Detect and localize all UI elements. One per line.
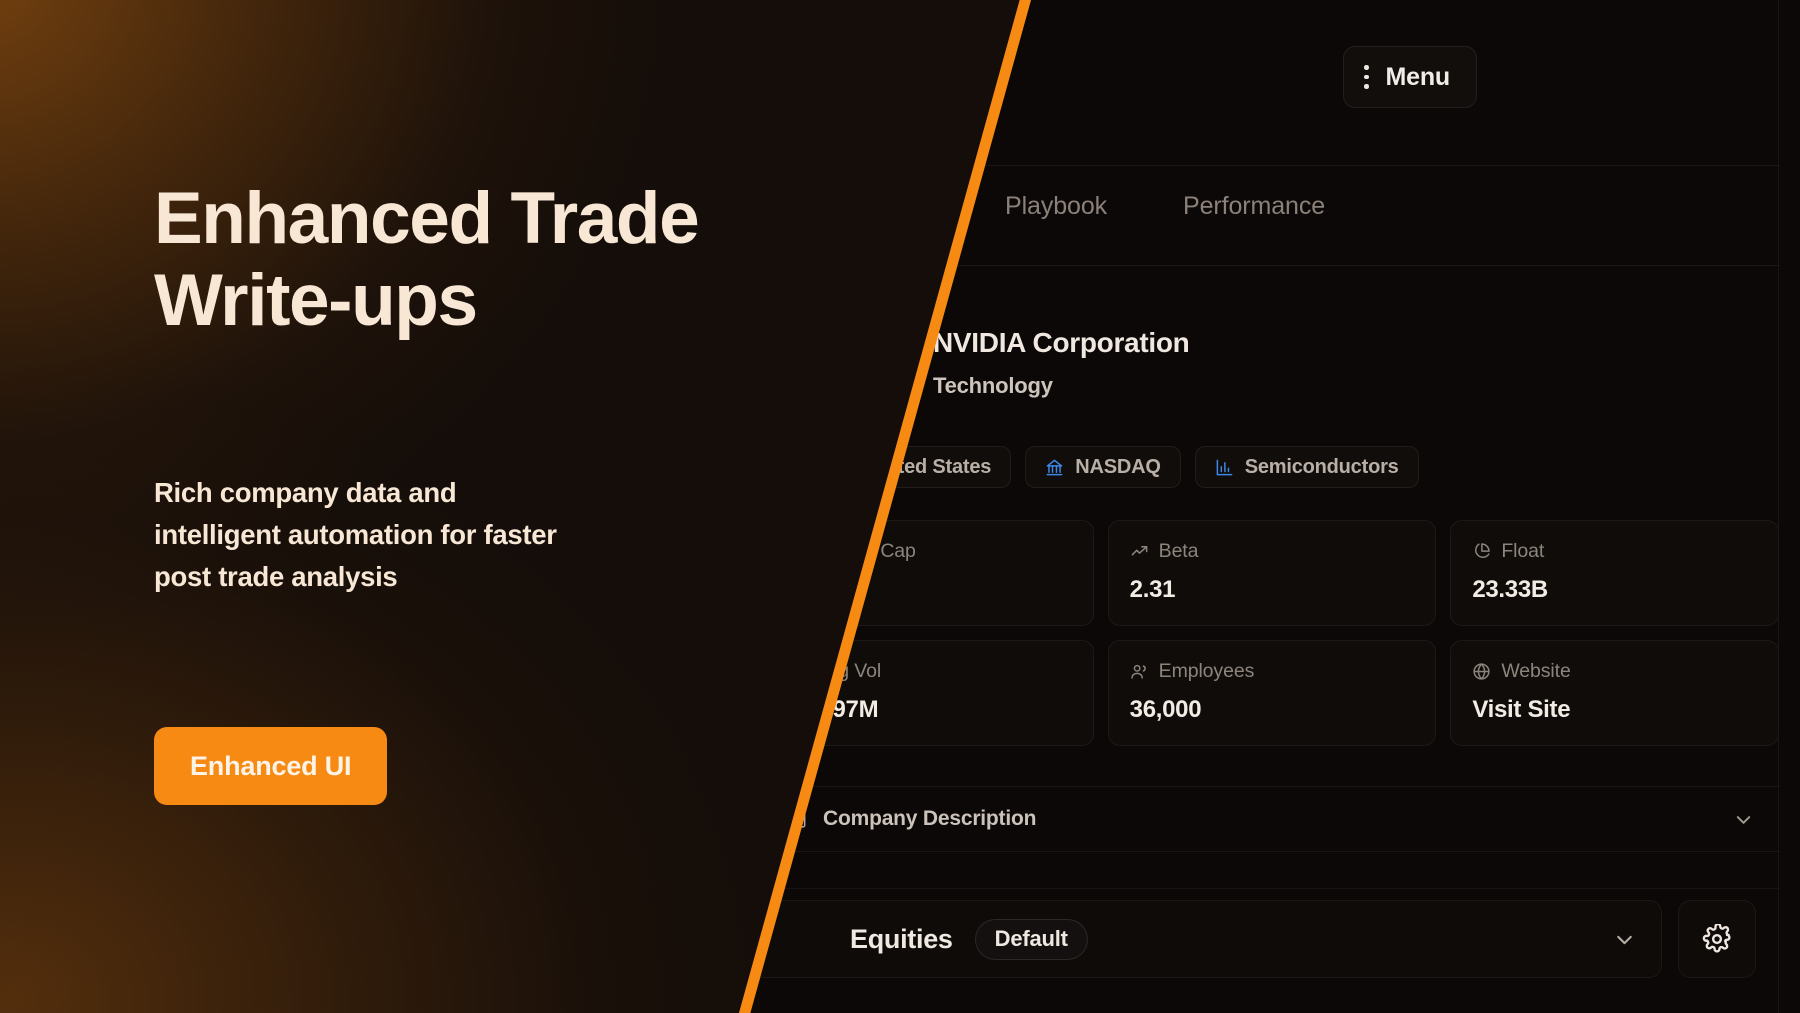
badge-industry[interactable]: Semiconductors (1195, 446, 1419, 488)
metric-card-header: Website (1472, 660, 1757, 683)
tab-bar: Playbook Performance (1005, 192, 1325, 221)
gear-icon (1702, 924, 1732, 954)
metric-card-employees[interactable]: Employees 36,000 (1108, 640, 1437, 746)
bar-chart-icon (1215, 458, 1234, 477)
badge-industry-label: Semiconductors (1245, 456, 1399, 479)
metric-card-website[interactable]: Website Visit Site (1450, 640, 1779, 746)
company-name: NVIDIA Corporation (933, 327, 1189, 359)
preset-badge: Default (975, 919, 1088, 960)
chevron-down-icon[interactable] (1612, 927, 1637, 952)
enhanced-ui-button[interactable]: Enhanced UI (154, 727, 387, 805)
kebab-menu-icon (1364, 65, 1369, 89)
metric-label: Float (1501, 540, 1544, 563)
tab-playbook[interactable]: Playbook (1005, 192, 1107, 221)
tab-performance[interactable]: Performance (1183, 192, 1325, 221)
metric-label: Website (1501, 660, 1570, 683)
metric-label: Beta (1159, 540, 1199, 563)
metric-value: 23.33B (1472, 576, 1757, 604)
metric-card-beta[interactable]: Beta 2.31 (1108, 520, 1437, 626)
metric-card-header: Beta (1130, 540, 1415, 563)
badge-exchange[interactable]: NASDAQ (1025, 446, 1180, 488)
bank-icon (1045, 458, 1064, 477)
metric-card-header: Employees (1130, 660, 1415, 683)
users-icon (1130, 662, 1149, 681)
metric-value: 36,000 (1130, 696, 1415, 724)
menu-button[interactable]: Menu (1343, 46, 1477, 108)
pie-chart-icon (1472, 542, 1491, 561)
metric-label: Employees (1159, 660, 1255, 683)
badge-exchange-label: NASDAQ (1075, 456, 1160, 479)
menu-button-label: Menu (1386, 63, 1450, 92)
metric-card-float[interactable]: Float 23.33B (1450, 520, 1779, 626)
panel-right-edge (1778, 0, 1779, 1013)
settings-button[interactable] (1678, 900, 1756, 978)
hero-subtitle: Rich company data and intelligent automa… (154, 472, 794, 597)
company-sector: Technology (933, 373, 1053, 399)
metric-value: Visit Site (1472, 696, 1757, 724)
screenshot-canvas: Menu Playbook Performance NVIDIA Corpora… (0, 0, 1800, 1013)
metric-card-header: Float (1472, 540, 1757, 563)
chevron-down-icon[interactable] (1732, 808, 1755, 831)
globe-icon (1472, 662, 1491, 681)
hero-title: Enhanced Trade Write-ups (154, 178, 934, 342)
trending-up-icon (1130, 542, 1149, 561)
metric-value: 2.31 (1130, 576, 1415, 604)
hero-content: Enhanced Trade Write-ups Rich company da… (154, 0, 944, 1013)
